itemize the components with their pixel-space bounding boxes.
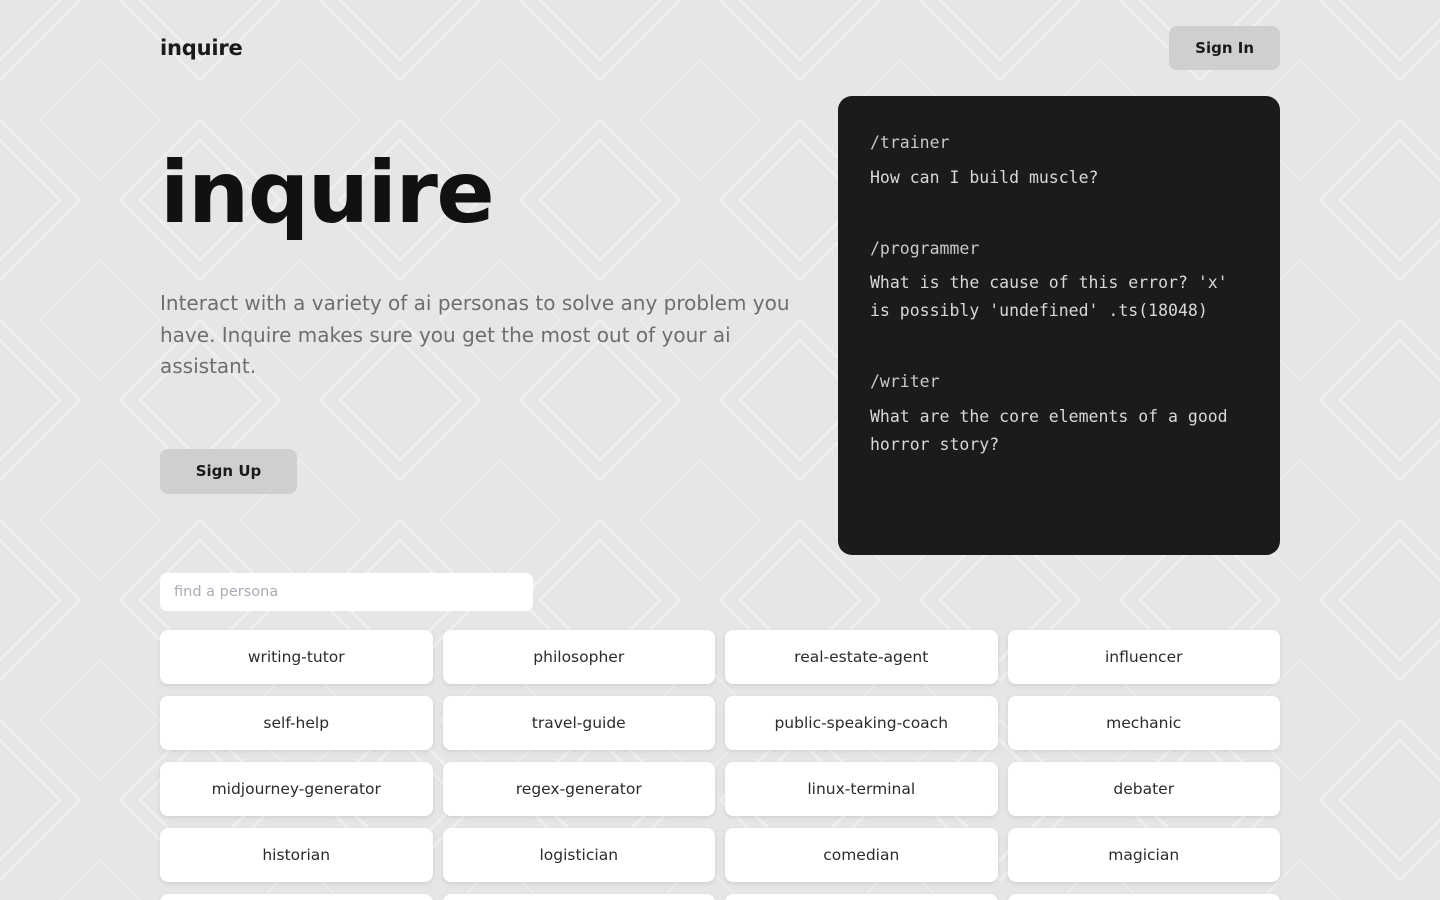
sign-in-button[interactable]: Sign In [1169, 26, 1280, 70]
persona-card[interactable] [1008, 894, 1281, 900]
persona-card[interactable] [160, 894, 433, 900]
persona-card[interactable]: philosopher [443, 630, 716, 684]
example-prompt-text: What are the core elements of a good hor… [870, 403, 1248, 459]
hero-section: inquire Interact with a variety of ai pe… [160, 150, 840, 494]
example-block: /trainer How can I build muscle? [870, 130, 1248, 192]
sign-up-button[interactable]: Sign Up [160, 449, 297, 494]
persona-card[interactable]: regex-generator [443, 762, 716, 816]
persona-card[interactable]: logistician [443, 828, 716, 882]
example-persona-label: /trainer [870, 130, 1248, 156]
persona-card[interactable]: influencer [1008, 630, 1281, 684]
persona-card[interactable]: historian [160, 828, 433, 882]
example-block: /programmer What is the cause of this er… [870, 236, 1248, 326]
persona-card[interactable]: comedian [725, 828, 998, 882]
page-title: inquire [160, 150, 840, 236]
example-persona-label: /programmer [870, 236, 1248, 262]
persona-card[interactable]: writing-tutor [160, 630, 433, 684]
persona-card[interactable] [725, 894, 998, 900]
persona-card[interactable]: debater [1008, 762, 1281, 816]
persona-card[interactable] [443, 894, 716, 900]
persona-card[interactable]: midjourney-generator [160, 762, 433, 816]
example-prompt-text: How can I build muscle? [870, 164, 1248, 192]
examples-panel: /trainer How can I build muscle? /progra… [838, 96, 1280, 555]
page-root: inquire Sign In inquire Interact with a … [0, 0, 1440, 900]
persona-section: writing-tutorphilosopherreal-estate-agen… [160, 573, 1280, 900]
persona-card[interactable]: magician [1008, 828, 1281, 882]
persona-card[interactable]: self-help [160, 696, 433, 750]
example-prompt-text: What is the cause of this error? 'x' is … [870, 269, 1248, 325]
persona-card[interactable]: linux-terminal [725, 762, 998, 816]
example-block: /writer What are the core elements of a … [870, 369, 1248, 459]
persona-card[interactable]: public-speaking-coach [725, 696, 998, 750]
hero-subtitle: Interact with a variety of ai personas t… [160, 288, 830, 383]
persona-card[interactable]: real-estate-agent [725, 630, 998, 684]
persona-card[interactable]: travel-guide [443, 696, 716, 750]
example-persona-label: /writer [870, 369, 1248, 395]
site-header: inquire Sign In [0, 0, 1440, 96]
persona-grid: writing-tutorphilosopherreal-estate-agen… [160, 630, 1280, 900]
search-input[interactable] [160, 573, 533, 611]
persona-card[interactable]: mechanic [1008, 696, 1281, 750]
brand-logo[interactable]: inquire [160, 36, 243, 60]
